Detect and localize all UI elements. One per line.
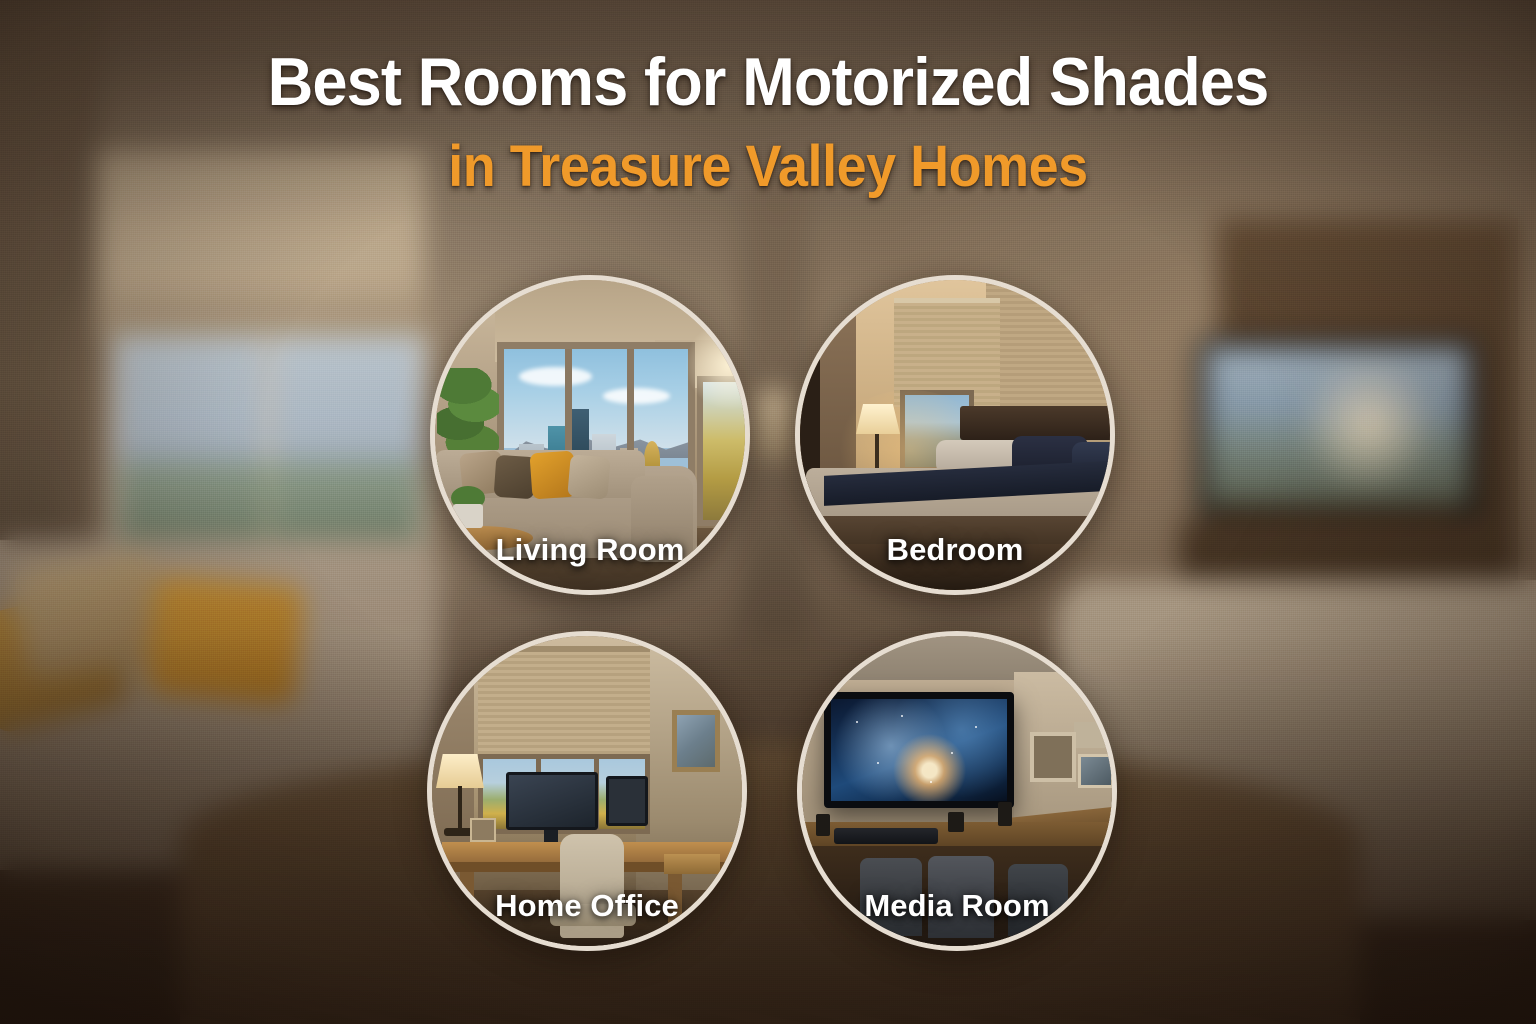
home-office-lamp-stem (458, 786, 462, 832)
media-room-wall-panel (1074, 722, 1112, 748)
living-room-pillow (567, 454, 611, 499)
infographic-canvas: Best Rooms for Motorized Shades in Treas… (0, 0, 1536, 1024)
cloud-icon (603, 388, 669, 404)
star-icon (877, 762, 879, 764)
star-icon (930, 781, 932, 783)
star-icon (901, 715, 903, 717)
heading-block: Best Rooms for Motorized Shades in Treas… (0, 48, 1536, 196)
room-card-home-office[interactable]: Home Office (427, 631, 747, 951)
home-office-desk-photo-frame (470, 818, 496, 842)
room-card-living-room[interactable]: Living Room (430, 275, 750, 595)
room-card-label: Media Room (802, 888, 1112, 924)
media-room-decor-object (948, 812, 964, 832)
media-room-decor-object (998, 802, 1012, 826)
bedroom-lamp-shade (856, 404, 900, 434)
star-icon (856, 721, 858, 723)
home-office-monitor (506, 772, 598, 830)
room-card-label: Bedroom (800, 532, 1110, 568)
bedroom-lamp-stem (875, 432, 879, 470)
page-subtitle: in Treasure Valley Homes (54, 138, 1482, 196)
media-room-television (824, 692, 1014, 808)
home-office-second-monitor (606, 776, 648, 826)
home-office-monitor-screen (509, 775, 595, 827)
media-room-tv-screen (831, 699, 1007, 801)
home-office-lamp-shade (436, 754, 484, 788)
room-card-bedroom[interactable]: Bedroom (795, 275, 1115, 595)
page-title: Best Rooms for Motorized Shades (54, 48, 1482, 116)
room-card-label: Living Room (435, 532, 745, 568)
room-card-media-room[interactable]: Media Room (797, 631, 1117, 951)
bedroom-headboard (960, 406, 1110, 440)
home-office-woven-shade (478, 646, 650, 764)
star-icon (951, 752, 953, 754)
home-office-side-table (664, 854, 720, 874)
media-room-shelf-niche (1030, 732, 1076, 782)
living-room-planter (453, 504, 483, 528)
cloud-icon (519, 367, 593, 386)
home-office-framed-art (672, 710, 720, 772)
media-room-soundbar (834, 828, 938, 844)
room-card-label: Home Office (432, 888, 742, 924)
star-icon (975, 726, 977, 728)
media-room-decor-object (816, 814, 830, 836)
media-room-framed-art (1078, 754, 1112, 788)
